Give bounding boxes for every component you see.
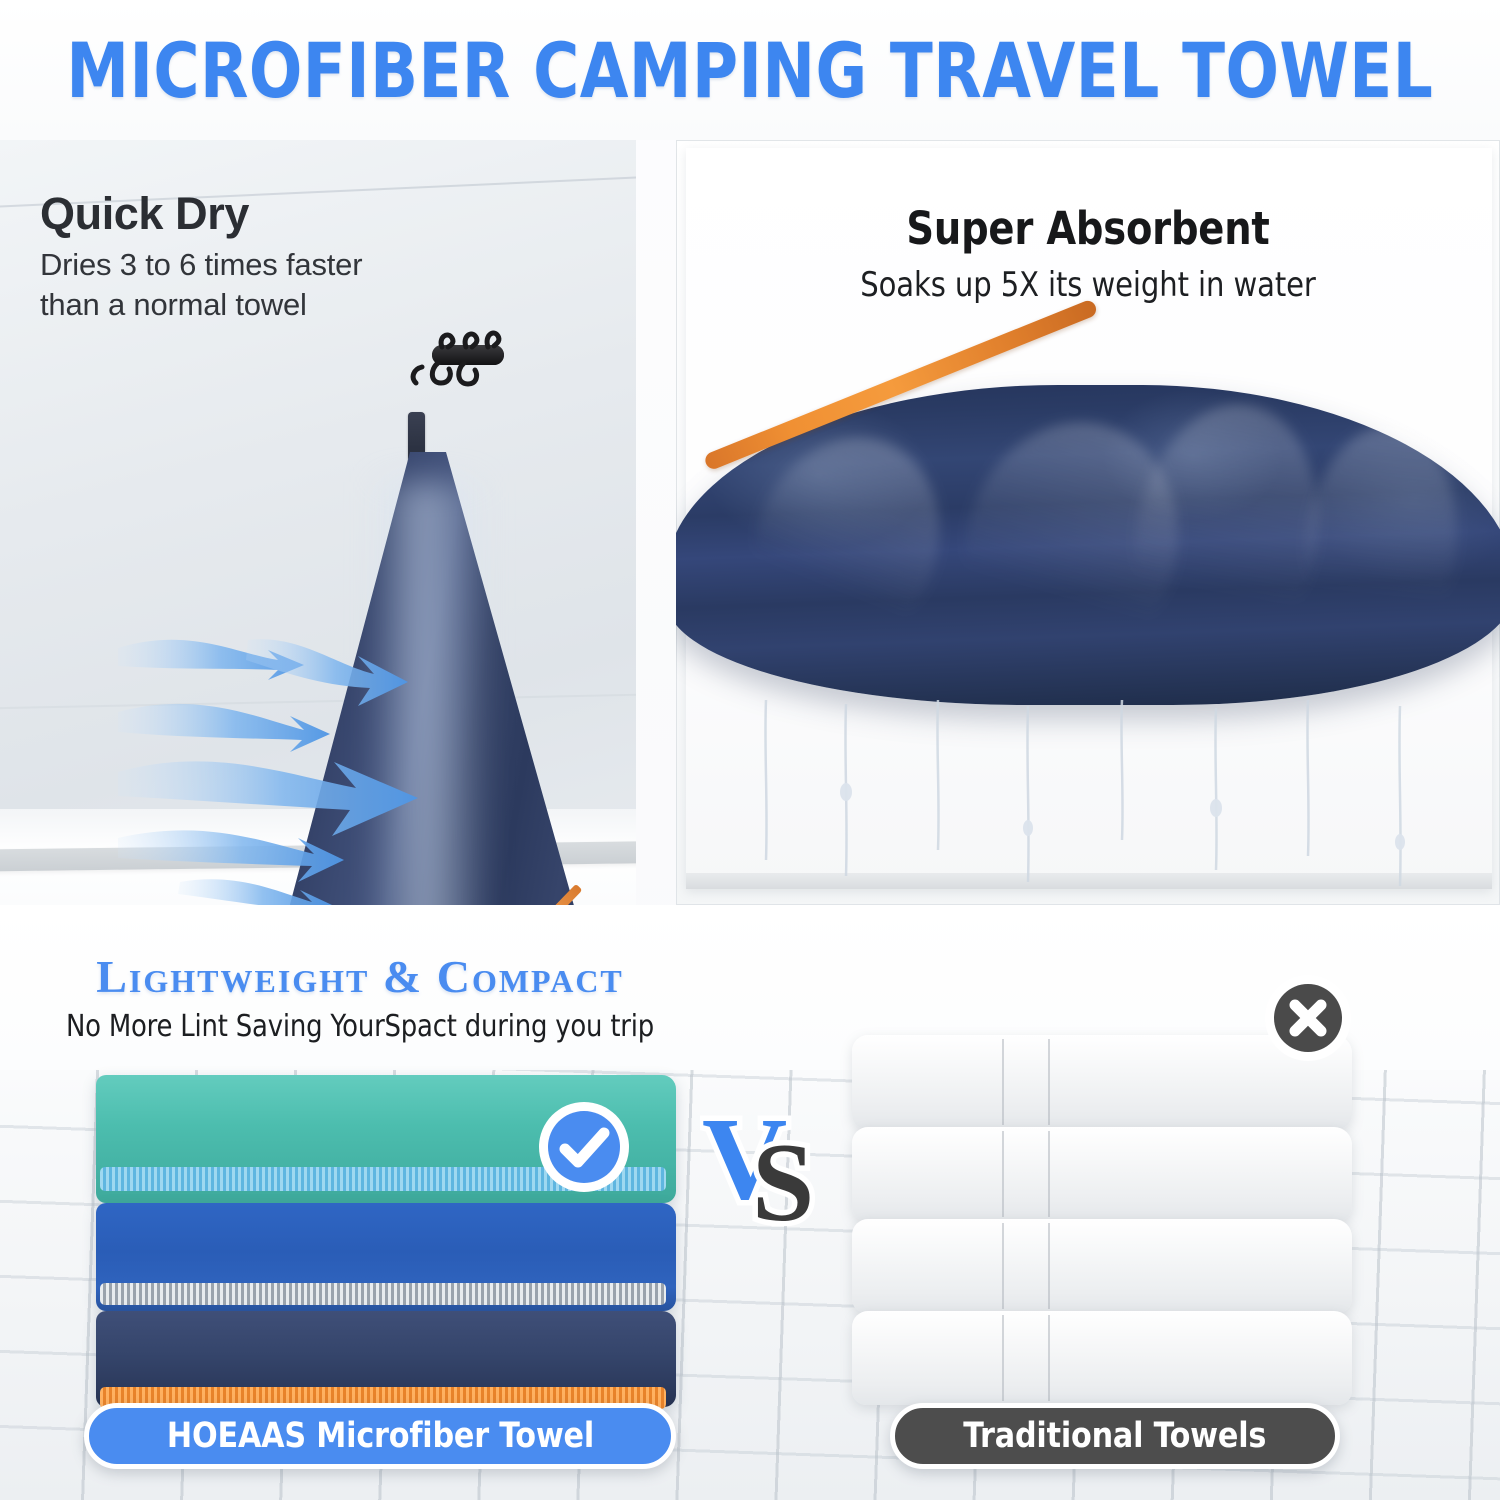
water-drips-icon <box>676 700 1500 900</box>
traditional-label-text: Traditional Towels <box>964 1416 1267 1456</box>
check-badge-icon <box>536 1099 632 1195</box>
towel-seam <box>1048 1131 1050 1217</box>
super-absorbent-subtitle: Soaks up 5X its weight in water <box>697 265 1480 305</box>
towel-layer-white <box>852 1219 1352 1313</box>
traditional-towels-label[interactable]: Traditional Towels <box>890 1403 1340 1469</box>
quick-dry-subtitle-line1: Dries 3 to 6 times faster <box>40 245 362 285</box>
super-absorbent-heading: Super Absorbent <box>697 202 1480 255</box>
title-bar: MICROFIBER CAMPING TRAVEL TOWEL <box>0 0 1500 140</box>
towel-seam <box>1002 1223 1004 1309</box>
lightweight-subtitle: No More Lint Saving YourSpact during you… <box>24 1009 696 1044</box>
page-title: MICROFIBER CAMPING TRAVEL TOWEL <box>67 26 1434 115</box>
lightweight-heading: Lightweight & Compact <box>10 950 710 1003</box>
wet-twisted-towel-icon <box>676 385 1500 715</box>
wall-hook-rack-icon <box>408 325 528 409</box>
quick-dry-subtitle-line2: than a normal towel <box>40 285 362 325</box>
towel-seam <box>1048 1315 1050 1401</box>
towel-trim-gray <box>100 1283 666 1305</box>
towel-seam <box>1002 1039 1004 1125</box>
towel-layer-white <box>852 1127 1352 1221</box>
panel-super-absorbent: Super Absorbent Soaks up 5X its weight i… <box>676 140 1500 905</box>
hoeaas-microfiber-towel-label[interactable]: HOEAAS Microfiber Towel <box>84 1403 676 1469</box>
versus-mark: V V S S <box>700 1094 826 1226</box>
x-badge-icon <box>1262 972 1354 1064</box>
quick-dry-heading-group: Quick Dry Dries 3 to 6 times faster than… <box>40 190 362 325</box>
panel-quick-dry: Quick Dry Dries 3 to 6 times faster than… <box>0 140 636 905</box>
infographic-page: MICROFIBER CAMPING TRAVEL TOWEL Quick Dr… <box>0 0 1500 1500</box>
wind-arrows-icon <box>118 620 458 905</box>
towel-seam <box>1002 1131 1004 1217</box>
hoeaas-label-text: HOEAAS Microfiber Towel <box>166 1416 593 1456</box>
towel-seam <box>1002 1315 1004 1401</box>
towel-layer-white <box>852 1311 1352 1405</box>
lightweight-heading-group: Lightweight & Compact No More Lint Savin… <box>10 950 710 1044</box>
versus-s: S <box>752 1121 814 1226</box>
towel-seam <box>1048 1039 1050 1125</box>
traditional-towel-stack <box>852 1035 1352 1405</box>
super-absorbent-heading-group: Super Absorbent Soaks up 5X its weight i… <box>676 202 1500 305</box>
towel-seam <box>1048 1223 1050 1309</box>
quick-dry-heading: Quick Dry <box>40 190 362 237</box>
